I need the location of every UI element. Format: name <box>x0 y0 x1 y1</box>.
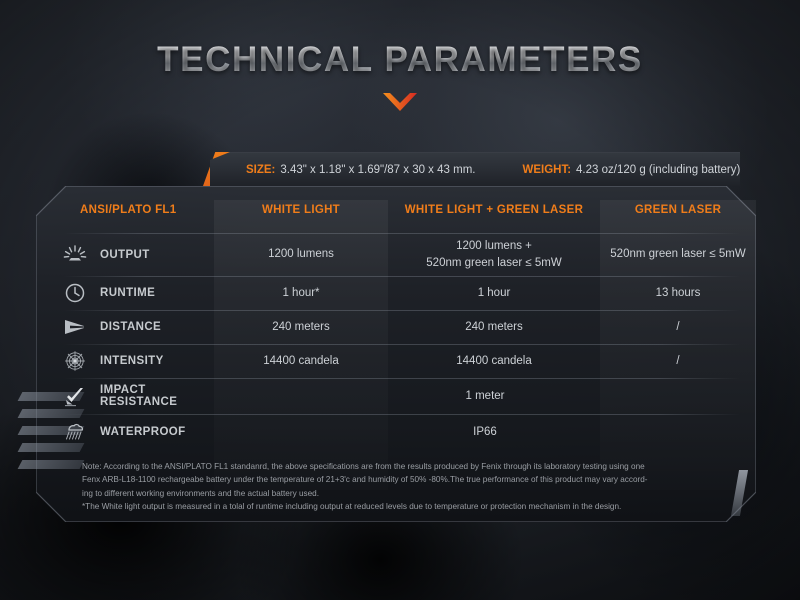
footnote-line: Note: According to the ANSI/PLATO FL1 st… <box>82 460 722 473</box>
header-cell-standard: ANSI/PLATO FL1 <box>36 186 214 233</box>
cell-distance-white-light-green-laser: 240 meters <box>388 310 600 344</box>
row-label-impact-resistance: IMPACT RESISTANCE <box>36 378 214 414</box>
table-row: INTENSITY 14400 candela 14400 candela / <box>36 344 756 378</box>
cell-output-green-laser: 520nm green laser ≤ 5mW <box>600 233 756 276</box>
row-label-text: DISTANCE <box>100 321 161 333</box>
cell-intensity-white-light-green-laser: 14400 candela <box>388 344 600 378</box>
row-label-text: RUNTIME <box>100 287 155 299</box>
cell-runtime-green-laser: 13 hours <box>600 276 756 310</box>
clock-icon <box>62 281 88 305</box>
cell-runtime-white-light: 1 hour* <box>214 276 388 310</box>
table-row: IMPACT RESISTANCE 1 meter <box>36 378 756 414</box>
header-cell-green-laser: GREEN LASER <box>600 186 756 233</box>
size-label: SIZE: <box>246 164 275 176</box>
weight-spec: WEIGHT: 4.23 oz/120 g (including battery… <box>522 164 743 176</box>
cell-intensity-green-laser: / <box>600 344 756 378</box>
weight-label: WEIGHT: <box>522 164 571 176</box>
page-header: TECHNICAL PARAMETERS <box>0 40 800 114</box>
footnote: Note: According to the ANSI/PLATO FL1 st… <box>82 460 722 513</box>
spec-summary-bar: SIZE: 3.43" x 1.18" x 1.69"/87 x 30 x 43… <box>210 152 740 186</box>
row-label-output: OUTPUT <box>36 233 214 276</box>
row-label-text: OUTPUT <box>100 249 150 261</box>
row-label-text: INTENSITY <box>100 355 164 367</box>
cell-distance-green-laser: / <box>600 310 756 344</box>
row-label-waterproof: WATERPROOF <box>36 414 214 450</box>
header-cell-white-light: WHITE LIGHT <box>214 186 388 233</box>
cell-runtime-white-light-green-laser: 1 hour <box>388 276 600 310</box>
target-intensity-icon <box>62 349 88 373</box>
weight-value: 4.23 oz/120 g (including battery). <box>576 164 744 176</box>
size-value: 3.43" x 1.18" x 1.69"/87 x 30 x 43 mm. <box>280 164 475 176</box>
header-cell-white-light-green-laser: WHITE LIGHT + GREEN LASER <box>388 186 600 233</box>
footnote-line: ing to different working environments an… <box>82 487 722 500</box>
rain-cloud-icon <box>62 420 88 444</box>
row-label-distance: DISTANCE <box>36 310 214 344</box>
table-row: RUNTIME 1 hour* 1 hour 13 hours <box>36 276 756 310</box>
chevron-down-icon <box>0 92 800 114</box>
footnote-line: *The White light output is measured in a… <box>82 500 722 513</box>
cell-output-white-light-green-laser: 1200 lumens + 520nm green laser ≤ 5mW <box>388 233 600 276</box>
cell-impact-resistance-value: 1 meter <box>214 378 756 414</box>
table-row: OUTPUT 1200 lumens 1200 lumens + 520nm g… <box>36 233 756 276</box>
table-row: DISTANCE 240 meters 240 meters / <box>36 310 756 344</box>
size-spec: SIZE: 3.43" x 1.18" x 1.69"/87 x 30 x 43… <box>246 164 475 176</box>
light-burst-icon <box>62 243 88 267</box>
row-label-intensity: INTENSITY <box>36 344 214 378</box>
page-title: TECHNICAL PARAMETERS <box>157 40 643 80</box>
cell-output-white-light: 1200 lumens <box>214 233 388 276</box>
row-label-text: WATERPROOF <box>100 426 186 438</box>
table-header-row: ANSI/PLATO FL1 WHITE LIGHT WHITE LIGHT +… <box>36 186 756 233</box>
cell-distance-white-light: 240 meters <box>214 310 388 344</box>
cell-waterproof-value: IP66 <box>214 414 756 450</box>
row-label-text: IMPACT RESISTANCE <box>100 384 214 408</box>
beam-distance-icon <box>62 315 88 339</box>
row-label-runtime: RUNTIME <box>36 276 214 310</box>
impact-check-icon <box>62 384 88 408</box>
footnote-line: Fenx ARB-L18-1100 rechargeabe battery un… <box>82 473 722 486</box>
cell-intensity-white-light: 14400 candela <box>214 344 388 378</box>
table-row: WATERPROOF IP66 <box>36 414 756 450</box>
